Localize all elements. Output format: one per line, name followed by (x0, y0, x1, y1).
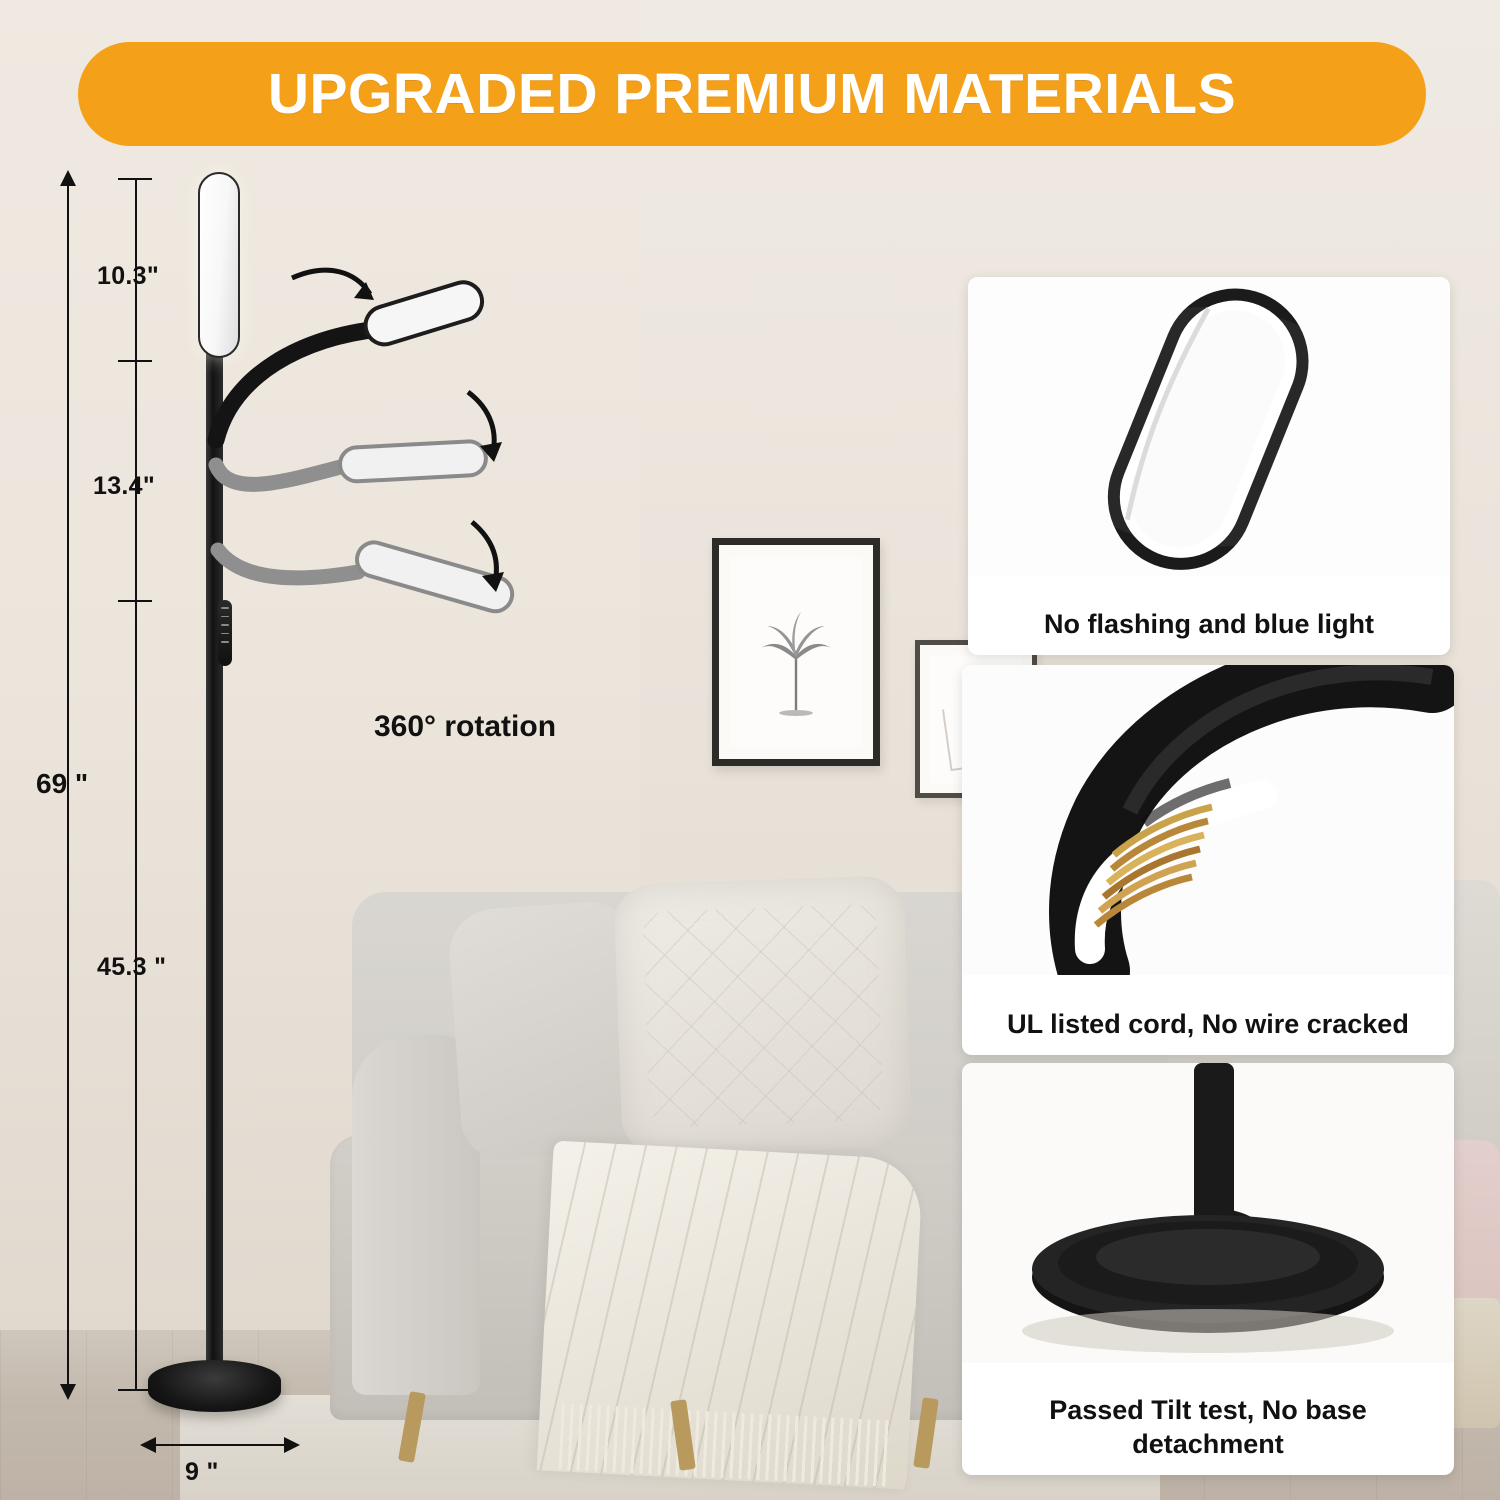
cushion-quilted (613, 875, 912, 1157)
arm-span-label: 13.4" (93, 472, 155, 501)
rotation-label: 360° rotation (374, 710, 556, 744)
total-height-label: 69 " (36, 768, 88, 800)
product-infographic: 360° rotation 69 " 10.3" 13.4" 45.3 " 9 … (0, 0, 1500, 1500)
headline-banner: UPGRADED PREMIUM MATERIALS (78, 42, 1426, 146)
arrow-down-icon (59, 1380, 77, 1400)
arrow-right-icon (280, 1436, 300, 1454)
cord-cutaway-icon (962, 665, 1454, 975)
card-caption: No flashing and blue light (968, 608, 1450, 655)
head-height-label: 10.3" (97, 262, 159, 291)
feature-card-tilt-test: Passed Tilt test, No base detachment (962, 1063, 1454, 1475)
tick-top (118, 178, 152, 180)
palm-tree-illustration (753, 596, 839, 716)
lamp-base (148, 1360, 281, 1412)
arrow-up-icon (59, 170, 77, 190)
quilt-pattern (642, 904, 883, 1128)
tick-bottom (118, 1389, 152, 1391)
feature-card-no-flashing: No flashing and blue light (968, 277, 1450, 655)
tick-1 (118, 360, 152, 362)
tick-2 (118, 600, 152, 602)
pole-height-label: 45.3 " (97, 953, 166, 982)
headline-text: UPGRADED PREMIUM MATERIALS (268, 61, 1236, 127)
card-caption: UL listed cord, No wire cracked (962, 1008, 1454, 1055)
base-width-label: 9 " (185, 1458, 219, 1487)
lamp-head-closeup-icon (968, 277, 1450, 577)
base-width-rule (148, 1444, 290, 1446)
lamp-base-icon (962, 1063, 1454, 1363)
pole-height-rule (135, 600, 137, 1390)
feature-card-ul-cord: UL listed cord, No wire cracked (962, 665, 1454, 1055)
gooseneck-arms (180, 250, 600, 680)
card-caption: Passed Tilt test, No base detachment (962, 1394, 1454, 1475)
arrow-left-icon (140, 1436, 160, 1454)
framed-palm-print (712, 538, 880, 766)
